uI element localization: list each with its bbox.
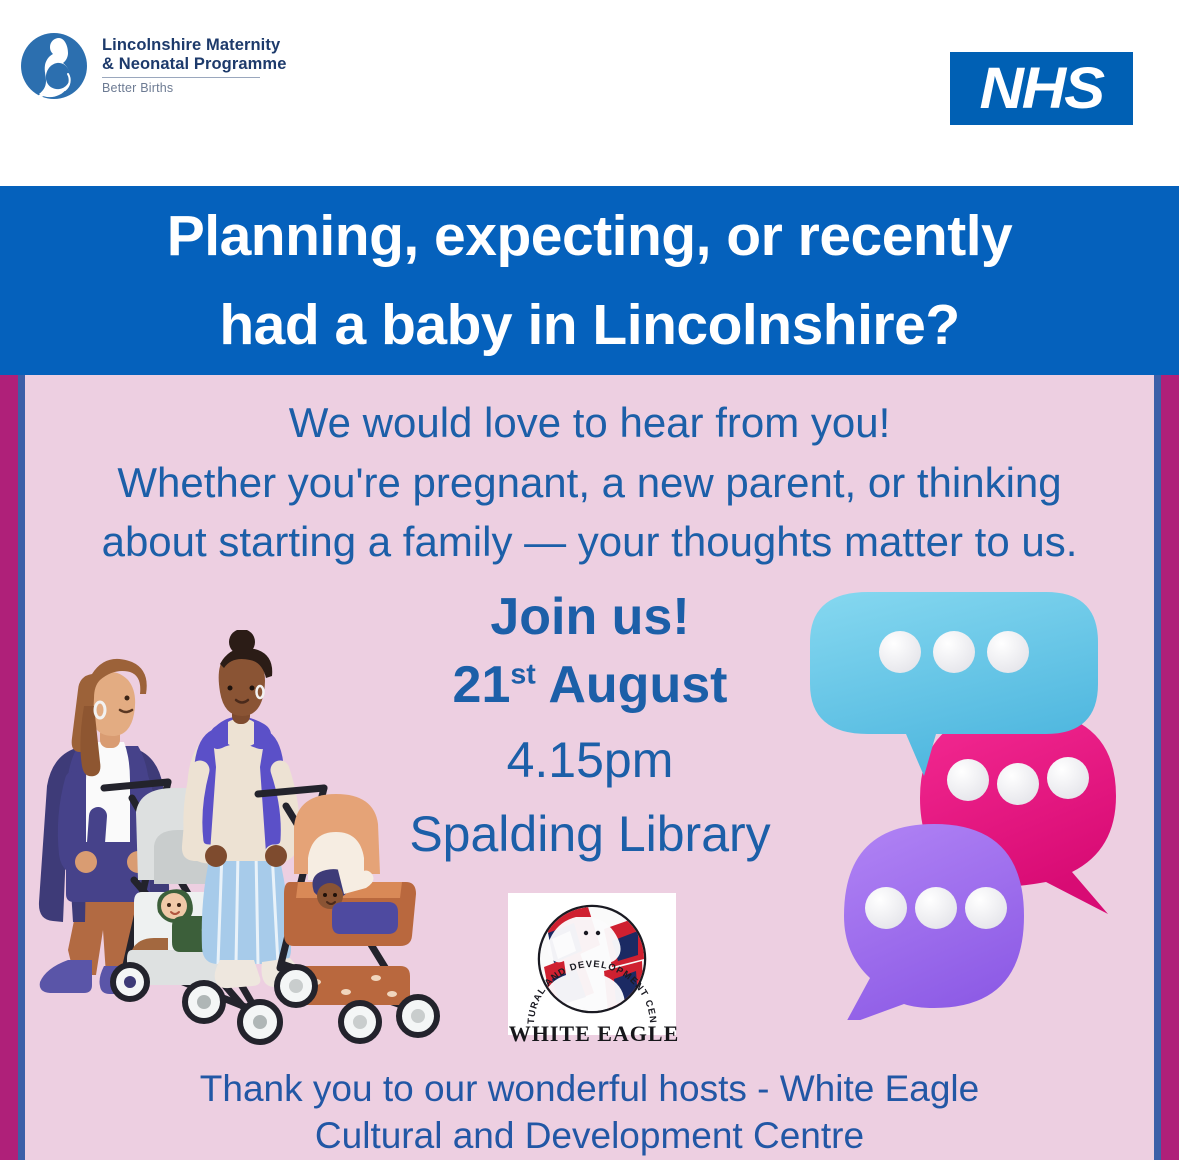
headline-band: Planning, expecting, or recently had a b… [0, 186, 1179, 375]
poster-root: Lincolnshire Maternity & Neonatal Progra… [0, 0, 1179, 1160]
intro-line-3: about starting a family — your thoughts … [0, 512, 1179, 572]
event-venue: Spalding Library [330, 798, 850, 871]
logo-line-2: & Neonatal Programme [102, 55, 286, 74]
poster-header: Lincolnshire Maternity & Neonatal Progra… [0, 0, 1179, 186]
border-magenta-left [0, 375, 18, 1160]
lincolnshire-maternity-logo: Lincolnshire Maternity & Neonatal Progra… [18, 30, 286, 102]
headline-line-2: had a baby in Lincolnshire? [219, 281, 959, 369]
headline-line-1: Planning, expecting, or recently [167, 192, 1013, 280]
pregnant-woman-circle-icon [18, 30, 90, 102]
event-details: Join us! 21st August 4.15pm Spalding Lib… [330, 586, 850, 871]
bubble-dot [933, 631, 975, 673]
event-date: 21st August [330, 649, 850, 723]
poster-body: We would love to hear from you! Whether … [0, 375, 1179, 1160]
logo-line-1: Lincolnshire Maternity [102, 36, 286, 55]
bubble-dot [965, 887, 1007, 929]
intro-line-1: We would love to hear from you! [0, 393, 1179, 453]
speech-bubbles-illustration [802, 580, 1167, 1020]
border-blue-left [18, 375, 25, 1160]
event-time: 4.15pm [330, 723, 850, 798]
event-date-number: 21 [453, 656, 511, 714]
white-eagle-name: WHITE EAGLE [508, 1021, 680, 1047]
event-date-ordinal: st [510, 659, 535, 691]
nhs-logo: NHS [950, 52, 1133, 125]
bubble-dot [879, 631, 921, 673]
logo-divider [102, 77, 260, 78]
event-join-label: Join us! [330, 586, 850, 649]
white-eagle-union-jack-logo: CULTURAL AND DEVELOPMENT CENTRE [508, 893, 676, 1035]
logo-tagline: Better Births [102, 81, 286, 95]
white-eagle-logo-card: CULTURAL AND DEVELOPMENT CENTRE [508, 893, 676, 1035]
bubble-dot [947, 759, 989, 801]
bubble-dot [865, 887, 907, 929]
nhs-logo-text: NHS [980, 55, 1103, 122]
bubble-dot [1047, 757, 1089, 799]
bubble-dot [987, 631, 1029, 673]
bubble-dot [997, 763, 1039, 805]
footer-line-2: Cultural and Development Centre [0, 1112, 1179, 1159]
intro-paragraph: We would love to hear from you! Whether … [0, 393, 1179, 572]
footer-line-1: Thank you to our wonderful hosts - White… [0, 1065, 1179, 1112]
speech-bubble-purple [844, 824, 1024, 1020]
bubble-dot [915, 887, 957, 929]
intro-line-2: Whether you're pregnant, a new parent, o… [0, 453, 1179, 513]
event-date-month: August [548, 656, 727, 714]
border-blue-right [1154, 375, 1161, 1160]
footer-thanks: Thank you to our wonderful hosts - White… [0, 1065, 1179, 1160]
white-eagle-logo: CULTURAL AND DEVELOPMENT CENTRE WHITE EA… [508, 893, 680, 1061]
lincolnshire-maternity-logo-text: Lincolnshire Maternity & Neonatal Progra… [102, 36, 286, 95]
border-magenta-right [1161, 375, 1179, 1160]
